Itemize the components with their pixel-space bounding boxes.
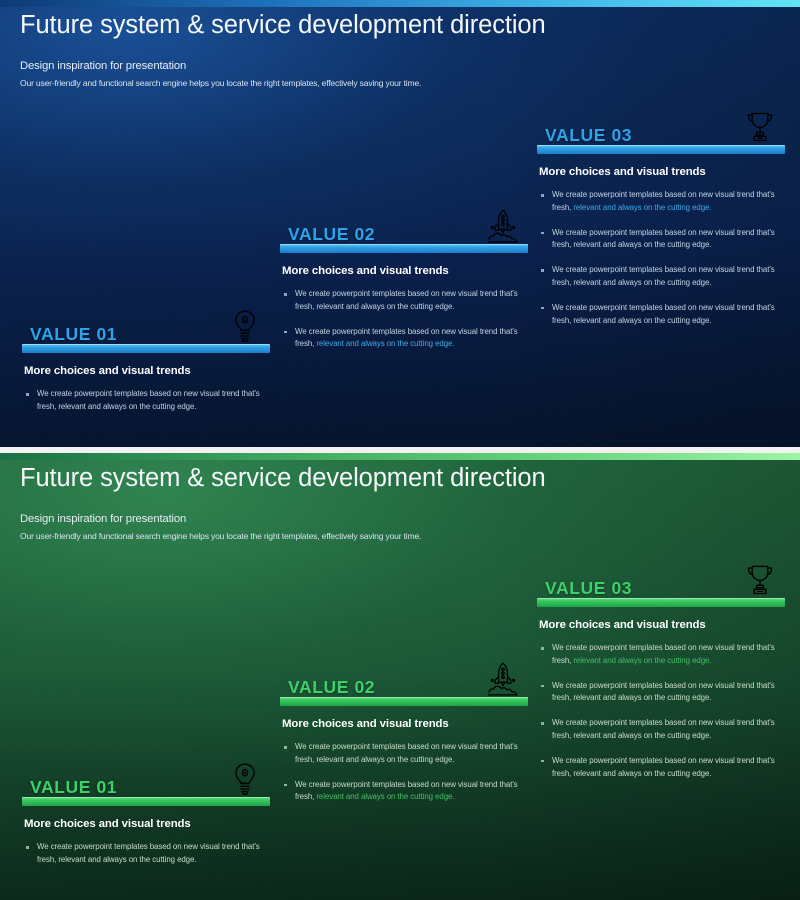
value-card-bullet-list: We create powerpoint templates based on …: [282, 741, 528, 804]
value-card-bullet-list: We create powerpoint templates based on …: [24, 841, 270, 867]
bullet-highlight: relevant and always on the cutting edge.: [573, 203, 711, 212]
bullet-highlight: relevant and always on the cutting edge.: [316, 339, 454, 348]
slide-subtitle: Design inspiration for presentation: [20, 60, 780, 72]
value-card-3[interactable]: VALUE 03 More choices and visual trends …: [537, 112, 785, 327]
bullet-text: We create powerpoint templates based on …: [295, 289, 518, 311]
value-card-label: VALUE 02: [288, 679, 375, 697]
bullet-text: We create powerpoint templates based on …: [552, 265, 775, 287]
value-card-accent-bar: [22, 797, 270, 806]
value-card-label: VALUE 03: [545, 580, 632, 598]
list-item: We create powerpoint templates based on …: [539, 264, 785, 290]
value-card-2[interactable]: VALUE 02 More choices and visual trends …: [280, 664, 528, 804]
value-card-heading: More choices and visual trends: [24, 365, 270, 377]
value-card-bullet-list: We create powerpoint templates based on …: [282, 288, 528, 351]
value-card-accent-bar: [537, 145, 785, 154]
value-card-3[interactable]: VALUE 03 More choices and visual trends …: [537, 565, 785, 780]
page-title: Future system & service development dire…: [20, 463, 780, 494]
value-card-label: VALUE 02: [288, 226, 375, 244]
bullet-text: We create powerpoint templates based on …: [552, 228, 775, 250]
lightbulb-icon: [228, 308, 262, 344]
value-card-heading: More choices and visual trends: [282, 718, 528, 730]
rocket-icon: [486, 208, 520, 244]
value-card-heading: More choices and visual trends: [539, 166, 785, 178]
slide-description: Our user-friendly and functional search …: [20, 531, 780, 541]
lightbulb-icon: [228, 761, 262, 797]
slide-description: Our user-friendly and functional search …: [20, 78, 780, 88]
bullet-text: We create powerpoint templates based on …: [552, 756, 775, 778]
value-card-header: VALUE 03: [537, 112, 785, 154]
value-card-bullet-list: We create powerpoint templates based on …: [539, 189, 785, 327]
list-item: We create powerpoint templates based on …: [539, 227, 785, 253]
value-card-accent-bar: [537, 598, 785, 607]
value-card-label: VALUE 01: [30, 326, 117, 344]
value-card-label: VALUE 01: [30, 779, 117, 797]
page-title: Future system & service development dire…: [20, 10, 780, 41]
bullet-highlight: relevant and always on the cutting edge.: [573, 656, 711, 665]
value-card-1[interactable]: VALUE 01 More choices and visual trends …: [22, 764, 270, 867]
rocket-icon: [486, 661, 520, 697]
slide-header: Future system & service development dire…: [20, 463, 780, 541]
list-item: We create powerpoint templates based on …: [539, 302, 785, 328]
list-item: We create powerpoint templates based on …: [539, 642, 785, 668]
slide-subtitle: Design inspiration for presentation: [20, 513, 780, 525]
value-card-heading: More choices and visual trends: [24, 818, 270, 830]
list-item: We create powerpoint templates based on …: [24, 841, 270, 867]
value-card-header: VALUE 01: [22, 764, 270, 806]
slide-deck-preview: Future system & service development dire…: [0, 0, 800, 900]
list-item: We create powerpoint templates based on …: [282, 288, 528, 314]
slide-top-accent-strip: [0, 453, 800, 460]
slide-1-blue[interactable]: Future system & service development dire…: [0, 0, 800, 447]
slide-header: Future system & service development dire…: [20, 10, 780, 88]
list-item: We create powerpoint templates based on …: [539, 717, 785, 743]
slide-2-green[interactable]: Future system & service development dire…: [0, 453, 800, 900]
bullet-text: We create powerpoint templates based on …: [552, 718, 775, 740]
trophy-icon: [743, 562, 777, 598]
list-item: We create powerpoint templates based on …: [282, 779, 528, 805]
value-card-header: VALUE 02: [280, 664, 528, 706]
bullet-text: We create powerpoint templates based on …: [552, 681, 775, 703]
list-item: We create powerpoint templates based on …: [539, 189, 785, 215]
value-card-header: VALUE 02: [280, 211, 528, 253]
bullet-text: We create powerpoint templates based on …: [552, 303, 775, 325]
value-card-header: VALUE 03: [537, 565, 785, 607]
list-item: We create powerpoint templates based on …: [539, 680, 785, 706]
value-card-accent-bar: [280, 244, 528, 253]
value-card-1[interactable]: VALUE 01 More choices and visual trends …: [22, 311, 270, 414]
value-card-heading: More choices and visual trends: [539, 619, 785, 631]
list-item: We create powerpoint templates based on …: [539, 755, 785, 781]
bullet-text: We create powerpoint templates based on …: [37, 389, 260, 411]
value-card-bullet-list: We create powerpoint templates based on …: [539, 642, 785, 780]
value-card-accent-bar: [22, 344, 270, 353]
value-card-2[interactable]: VALUE 02 More choices and visual trends …: [280, 211, 528, 351]
value-card-label: VALUE 03: [545, 127, 632, 145]
value-card-header: VALUE 01: [22, 311, 270, 353]
list-item: We create powerpoint templates based on …: [24, 388, 270, 414]
value-card-accent-bar: [280, 697, 528, 706]
value-card-heading: More choices and visual trends: [282, 265, 528, 277]
list-item: We create powerpoint templates based on …: [282, 326, 528, 352]
slide-top-accent-strip: [0, 0, 800, 7]
list-item: We create powerpoint templates based on …: [282, 741, 528, 767]
bullet-text: We create powerpoint templates based on …: [295, 742, 518, 764]
bullet-text: We create powerpoint templates based on …: [37, 842, 260, 864]
value-card-bullet-list: We create powerpoint templates based on …: [24, 388, 270, 414]
bullet-highlight: relevant and always on the cutting edge.: [316, 792, 454, 801]
trophy-icon: [743, 109, 777, 145]
